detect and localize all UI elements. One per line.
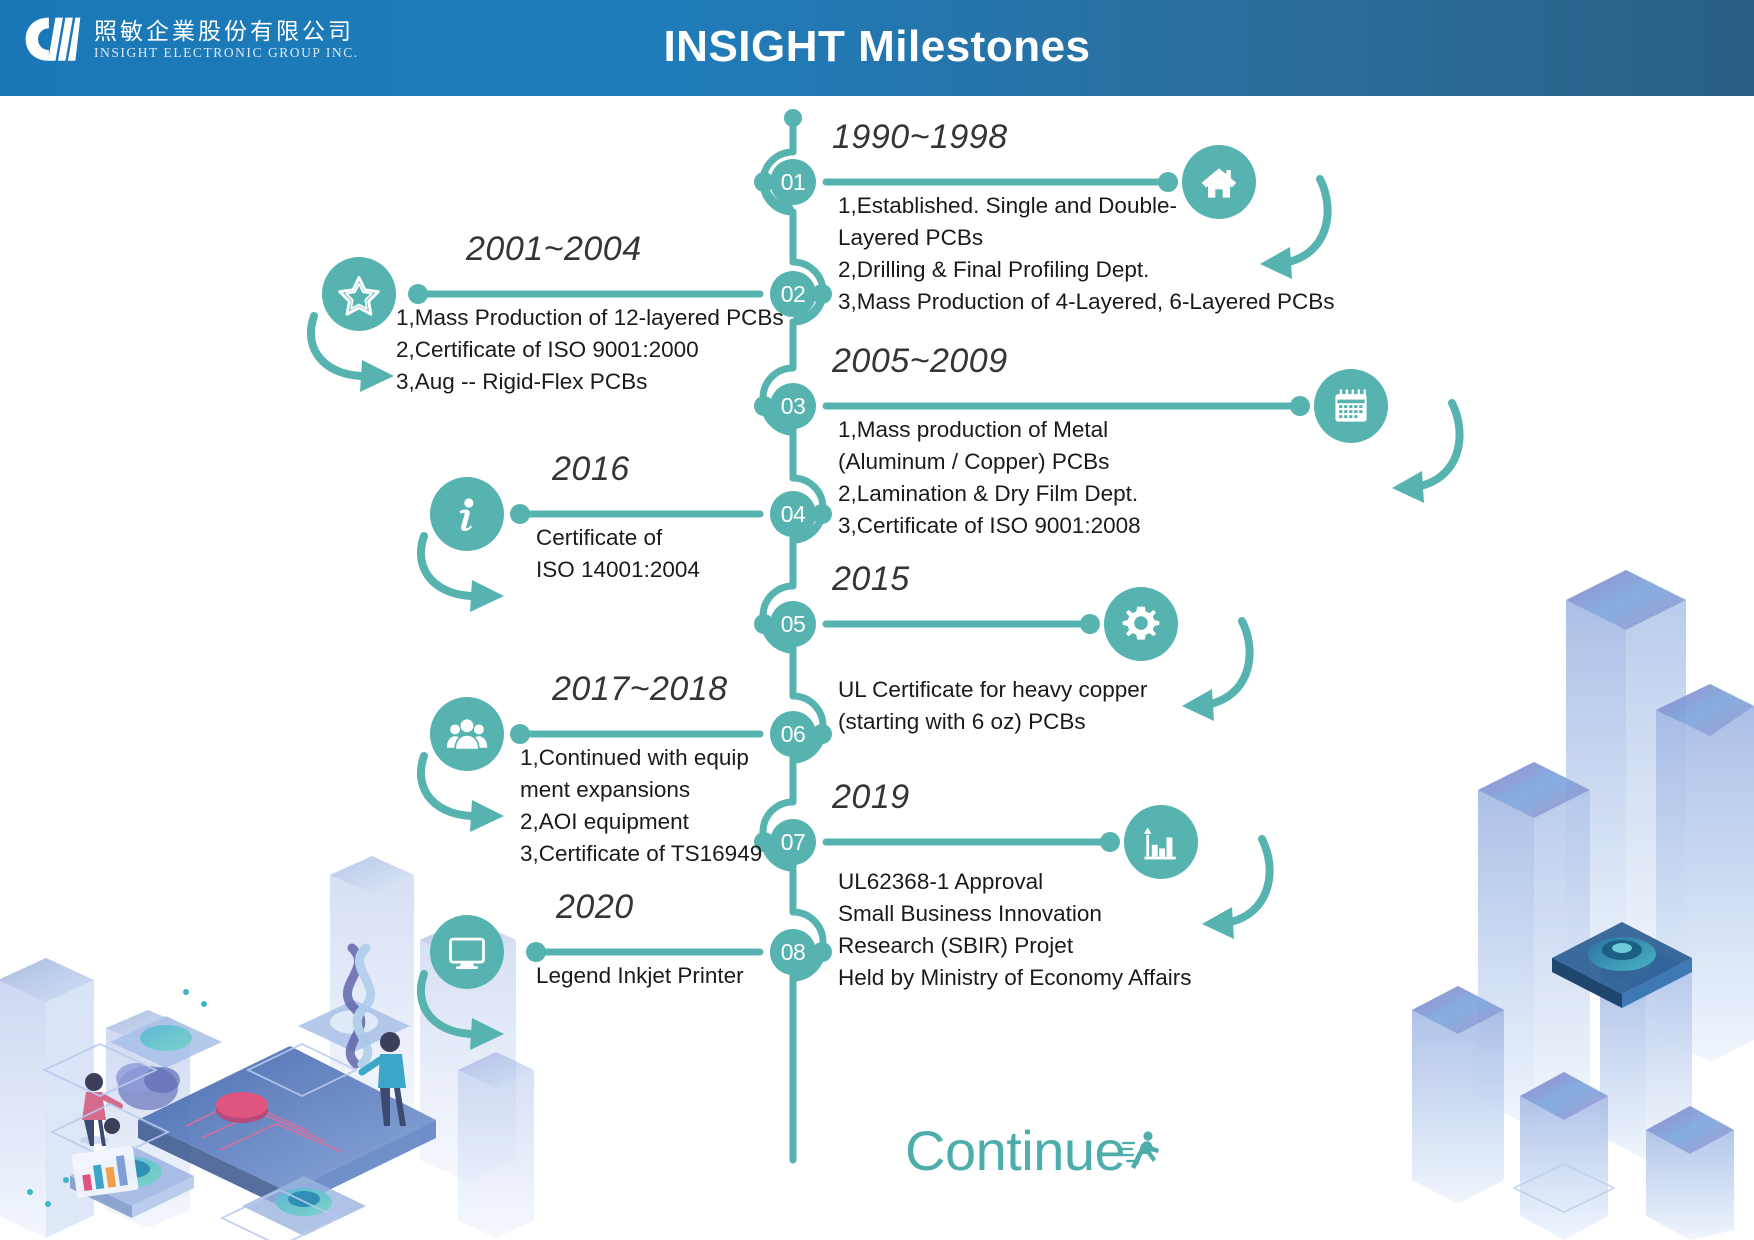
- node-number: 03: [781, 393, 806, 420]
- gear-icon: [1104, 587, 1178, 661]
- milestone-year-07: 2019: [832, 778, 910, 817]
- timeline-node-07[interactable]: 07: [770, 819, 816, 865]
- calendar-icon: [1314, 369, 1388, 443]
- continue-label: Continue: [905, 1118, 1125, 1183]
- node-number: 04: [781, 501, 806, 528]
- node-number: 08: [781, 939, 806, 966]
- milestone-desc-03: 1,Mass production of Metal (Aluminum / C…: [838, 414, 1298, 542]
- milestone-year-02: 2001~2004: [466, 230, 642, 269]
- continue-label-group[interactable]: Continue: [905, 1118, 1161, 1183]
- milestone-year-08: 2020: [556, 888, 634, 927]
- running-person-icon: [1121, 1129, 1161, 1173]
- node-number: 01: [781, 169, 806, 196]
- node-number: 06: [781, 721, 806, 748]
- page-header: 照敏企業股份有限公司 INSIGHT ELECTRONIC GROUP INC.…: [0, 0, 1754, 96]
- milestone-desc-02: 1,Mass Production of 12-layered PCBs 2,C…: [396, 302, 816, 398]
- node-number: 07: [781, 829, 806, 856]
- timeline-node-08[interactable]: 08: [770, 929, 816, 975]
- home-icon: [1182, 145, 1256, 219]
- star-icon: [322, 257, 396, 331]
- timeline-node-04[interactable]: 04: [770, 491, 816, 537]
- milestone-year-05: 2015: [832, 560, 910, 599]
- milestone-year-04: 2016: [552, 450, 630, 489]
- timeline-node-03[interactable]: 03: [770, 383, 816, 429]
- people-icon: [430, 697, 504, 771]
- monitor-icon: [430, 915, 504, 989]
- info-icon: [430, 477, 504, 551]
- milestone-year-03: 2005~2009: [832, 342, 1008, 381]
- timeline-node-05[interactable]: 05: [770, 601, 816, 647]
- timeline-node-02[interactable]: 02: [770, 271, 816, 317]
- page-title: INSIGHT Milestones: [0, 22, 1754, 72]
- timeline-node-01[interactable]: 01: [770, 159, 816, 205]
- node-number: 05: [781, 611, 806, 638]
- milestones-timeline: 01 1990~1998 1,Established. Single and D…: [0, 96, 1754, 1240]
- milestone-year-01: 1990~1998: [832, 118, 1008, 157]
- milestone-year-06: 2017~2018: [552, 670, 728, 709]
- node-number: 02: [781, 281, 806, 308]
- timeline-node-06[interactable]: 06: [770, 711, 816, 757]
- bar-chart-icon: [1124, 805, 1198, 879]
